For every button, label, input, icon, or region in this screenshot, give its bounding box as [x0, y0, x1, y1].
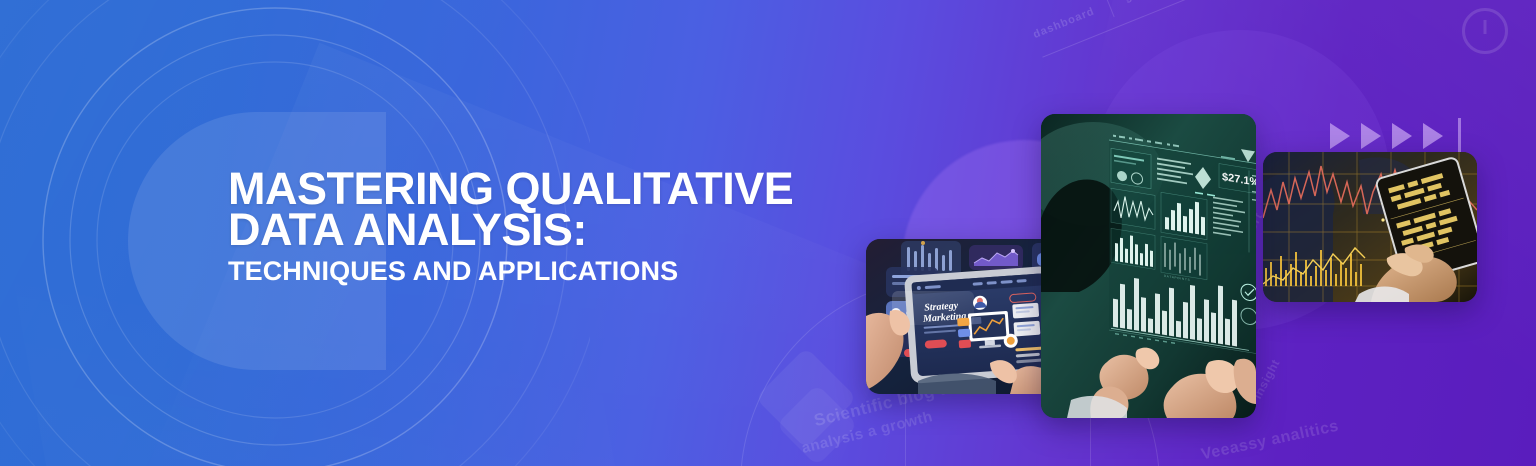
play-arrow-icon [1330, 123, 1350, 149]
hero-banner: dashboard graph analytics Scientific blo… [0, 0, 1536, 466]
ghost-gauge-icon [1462, 8, 1508, 54]
play-arrow-row [1330, 118, 1461, 154]
ghost-ui-row: dashboard graph analytics [1029, 0, 1521, 47]
page-title-line-2: DATA ANALYSIS: [228, 209, 868, 250]
analytics-dashboard-artwork: $27.1% [1041, 114, 1256, 418]
ghost-ui-label-0: dashboard [1031, 5, 1096, 41]
page-subtitle: TECHNIQUES AND APPLICATIONS [228, 256, 868, 286]
ghost-word-3: Veeassy analitics [1200, 418, 1341, 465]
analytics-dashboard-card: $27.1% [1041, 114, 1256, 418]
ghost-ui-label-1: graph [1123, 0, 1160, 4]
stock-chart-card [1263, 152, 1477, 302]
stock-chart-artwork [1263, 152, 1477, 302]
play-arrow-icon [1392, 123, 1412, 149]
play-arrow-icon [1423, 123, 1443, 149]
headline-block: MASTERING QUALITATIVE DATA ANALYSIS: TEC… [228, 168, 868, 286]
arrow-end-bar [1458, 118, 1461, 154]
play-arrow-icon [1361, 123, 1381, 149]
ghost-ui-divider [1104, 0, 1115, 17]
page-title-line-1: MASTERING QUALITATIVE [228, 168, 868, 209]
